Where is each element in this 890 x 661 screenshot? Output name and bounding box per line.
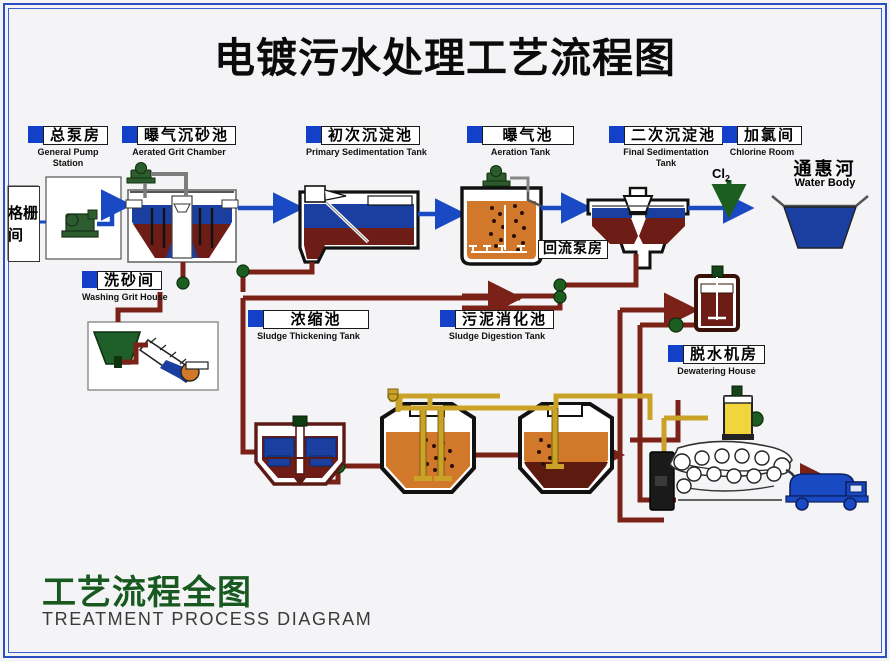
legend-swatch [122,126,137,143]
pump-machine-icon [62,210,98,237]
label-washing-grit-house: 洗砂间 Washing Grit House [82,271,168,303]
label-cn: 总泵房 [43,126,108,145]
legend-swatch [440,310,455,327]
label-cn: 脱水机房 [683,345,765,364]
label-en: Aerated Grit Chamber [122,147,236,158]
label-en: Aeration Tank [467,147,574,158]
washing-grit-house-unit [88,318,218,390]
label-en: Sludge Thickening Tank [248,331,369,342]
belt-filter-press-unit [650,441,796,510]
process-diagram-page: 电镀污水处理工艺流程图 [0,0,890,661]
sludge-thickening-tank-unit [256,416,344,486]
label-en: Sludge Digestion Tank [440,331,554,342]
label-cn: 曝气沉砂池 [137,126,236,145]
label-cn: 加氯间 [737,126,802,145]
aerated-grit-chamber-unit [126,163,300,263]
label-final-sedimentation-tank: 二次沉淀池 Final Sedimentation Tank [609,126,723,169]
label-en: Final Sedimentation [609,147,723,158]
label-en2: Tank [609,158,723,169]
legend-swatch [306,126,321,143]
sludge-digestion-tank-1 [382,404,474,492]
label-cn: 二次沉淀池 [624,126,723,145]
legend-swatch [467,126,482,143]
label-cn: 浓缩池 [263,310,369,329]
label-cn: 洗砂间 [97,271,162,290]
conditioning-mixing-tank [696,266,738,330]
label-cn: 污泥消化池 [455,310,554,329]
label-en: Washing Grit House [82,292,168,303]
label-cn: 曝气池 [482,126,574,145]
label-return-pump-house: 回流泵房 [538,240,608,259]
primary-sedimentation-tank-unit [300,186,462,262]
water-body-channel [772,196,868,248]
polymer-dosing-tank [722,386,754,440]
label-en: Primary Sedimentation Tank [306,147,427,158]
grit-blower-icon [127,163,155,184]
general-pump-station-unit [38,177,128,259]
label-cn: 初次沉淀池 [321,126,420,145]
cl2-text: Cl [712,166,725,181]
label-en2: Station [28,158,108,169]
legend-swatch [609,126,624,143]
label-primary-sedimentation-tank: 初次沉淀池 Primary Sedimentation Tank [306,126,427,158]
label-dewatering-house: 脱水机房 Dewatering House [668,345,765,377]
legend-swatch [28,126,43,143]
label-cn: 回流泵房 [538,240,608,259]
sludge-truck-icon [786,474,868,510]
label-sludge-digestion-tank: 污泥消化池 Sludge Digestion Tank [440,310,554,342]
grille-room-label: 格栅间 [8,188,38,260]
sludge-digestion-tank-2 [520,404,612,492]
chlorine-gas-label: Cl2 [712,166,730,184]
final-sedimentation-tank-unit [588,188,750,268]
water-body-label-en: Water Body [760,177,890,189]
label-aerated-grit-chamber: 曝气沉砂池 Aerated Grit Chamber [122,126,236,158]
label-chlorine-room: 加氯间 Chlorine Room [722,126,802,158]
label-sludge-thickening-tank: 浓缩池 Sludge Thickening Tank [248,310,369,342]
label-general-pump-station: 总泵房 General Pump Station [28,126,108,169]
label-en: General Pump [28,147,108,158]
legend-swatch [82,271,97,288]
label-en: Dewatering House [668,366,765,377]
aeration-blower-icon [483,166,510,187]
legend-swatch [668,345,683,362]
label-aeration-tank: 曝气池 Aeration Tank [467,126,574,158]
legend-swatch [248,310,263,327]
footer-title-cn: 工艺流程全图 [42,565,252,614]
legend-swatch [722,126,737,143]
footer-title-en: TREATMENT PROCESS DIAGRAM [42,609,372,630]
cl2-subscript: 2 [725,174,730,184]
